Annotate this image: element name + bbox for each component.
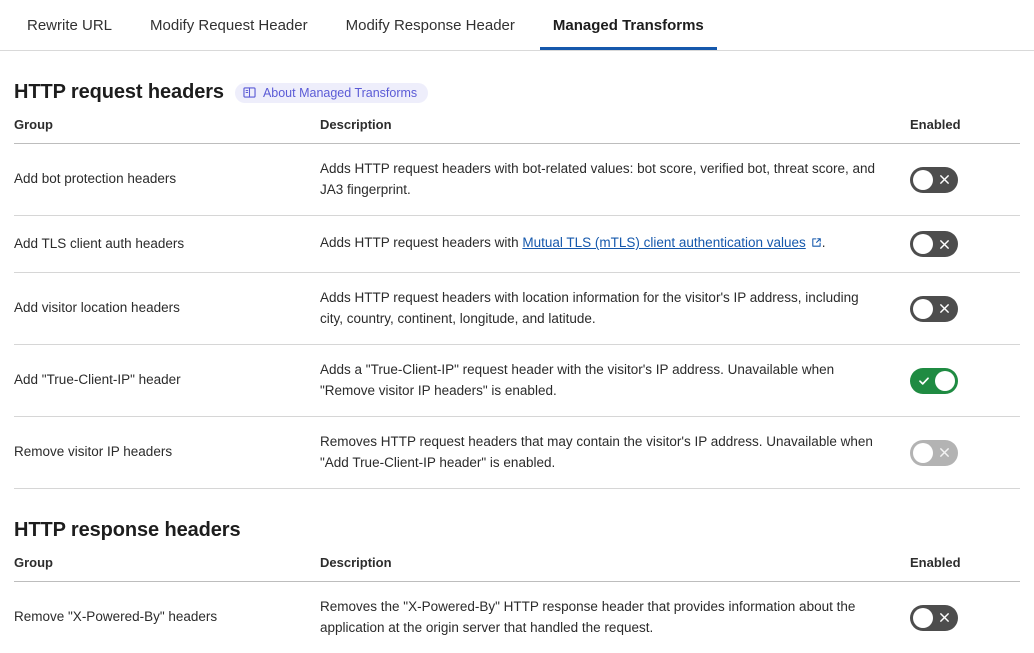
tab-modify-request-header[interactable]: Modify Request Header (137, 0, 321, 49)
toggle-remove-x-powered-by-headers[interactable] (910, 605, 958, 631)
table-row: Add "True-Client-IP" header Adds a "True… (14, 345, 1020, 417)
toggle-remove-visitor-ip-headers (910, 440, 958, 466)
row-group-label: Remove "X-Powered-By" headers (14, 582, 320, 653)
close-icon (937, 296, 951, 322)
row-group-label: Remove visitor IP headers (14, 417, 320, 489)
response-section-header: HTTP response headers (14, 519, 1020, 542)
table-row: Add bot protection headers Adds HTTP req… (14, 144, 1020, 216)
toggle-knob (913, 234, 933, 254)
column-header-enabled: Enabled (910, 555, 1020, 582)
external-link-icon[interactable] (811, 234, 822, 255)
close-icon (937, 605, 951, 631)
request-section-header: HTTP request headers About Managed Trans… (14, 81, 1020, 104)
close-icon (937, 440, 951, 466)
row-enabled-cell (910, 144, 1020, 216)
table-row: Add TLS client auth headers Adds HTTP re… (14, 216, 1020, 273)
check-icon (917, 368, 931, 394)
toggle-add-tls-client-auth-headers[interactable] (910, 231, 958, 257)
table-header-row: Group Description Enabled (14, 117, 1020, 144)
column-header-enabled: Enabled (910, 117, 1020, 144)
table-row: Remove "X-Powered-By" headers Removes th… (14, 582, 1020, 653)
row-group-label: Add bot protection headers (14, 144, 320, 216)
toggle-knob (913, 608, 933, 628)
book-icon (243, 86, 256, 99)
toggle-knob (935, 371, 955, 391)
toggle-add-visitor-location-headers[interactable] (910, 296, 958, 322)
column-header-group: Group (14, 117, 320, 144)
table-row: Remove visitor IP headers Removes HTTP r… (14, 417, 1020, 489)
request-headers-table: Group Description Enabled Add bot protec… (14, 117, 1020, 489)
row-group-label: Add TLS client auth headers (14, 216, 320, 273)
row-enabled-cell (910, 345, 1020, 417)
row-description: Adds HTTP request headers with location … (320, 273, 910, 345)
row-description-prefix: Adds HTTP request headers with (320, 235, 522, 250)
tab-modify-response-header[interactable]: Modify Response Header (333, 0, 528, 49)
http-request-headers-section: HTTP request headers About Managed Trans… (0, 81, 1034, 489)
close-icon (937, 167, 951, 193)
row-description-suffix: . (822, 235, 826, 250)
row-description: Adds HTTP request headers with Mutual TL… (320, 216, 910, 273)
tab-managed-transforms[interactable]: Managed Transforms (540, 0, 717, 49)
column-header-group: Group (14, 555, 320, 582)
column-header-description: Description (320, 117, 910, 144)
column-header-description: Description (320, 555, 910, 582)
close-icon (937, 231, 951, 257)
row-enabled-cell (910, 582, 1020, 653)
row-description: Removes HTTP request headers that may co… (320, 417, 910, 489)
tab-bar: Rewrite URL Modify Request Header Modify… (0, 0, 1034, 51)
about-managed-transforms-link[interactable]: About Managed Transforms (235, 83, 428, 103)
row-enabled-cell (910, 417, 1020, 489)
page-title-request: HTTP request headers (14, 81, 224, 104)
row-group-label: Add "True-Client-IP" header (14, 345, 320, 417)
about-managed-transforms-label: About Managed Transforms (263, 86, 417, 100)
row-description: Adds a "True-Client-IP" request header w… (320, 345, 910, 417)
row-group-label: Add visitor location headers (14, 273, 320, 345)
page-title-response: HTTP response headers (14, 519, 241, 542)
table-header-row: Group Description Enabled (14, 555, 1020, 582)
toggle-knob (913, 299, 933, 319)
row-description: Removes the "X-Powered-By" HTTP response… (320, 582, 910, 653)
toggle-knob (913, 443, 933, 463)
response-headers-table: Group Description Enabled Remove "X-Powe… (14, 555, 1020, 653)
http-response-headers-section: HTTP response headers Group Description … (0, 519, 1034, 653)
tab-rewrite-url[interactable]: Rewrite URL (14, 0, 125, 49)
row-enabled-cell (910, 273, 1020, 345)
mutual-tls-link[interactable]: Mutual TLS (mTLS) client authentication … (522, 235, 805, 250)
toggle-knob (913, 170, 933, 190)
row-description: Adds HTTP request headers with bot-relat… (320, 144, 910, 216)
toggle-add-true-client-ip-header[interactable] (910, 368, 958, 394)
toggle-add-bot-protection-headers[interactable] (910, 167, 958, 193)
row-enabled-cell (910, 216, 1020, 273)
table-row: Add visitor location headers Adds HTTP r… (14, 273, 1020, 345)
